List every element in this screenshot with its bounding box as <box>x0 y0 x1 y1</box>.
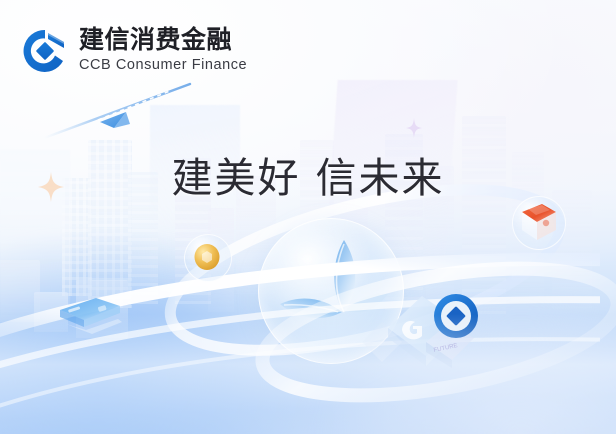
ccb-logo-mark <box>22 28 68 74</box>
brand-logo[interactable]: 建信消费金融 CCB Consumer Finance <box>22 26 247 75</box>
ccb-consumer-finance-banner: FUTURE 建美好 信未来 <box>0 0 616 434</box>
logo-name-en: CCB Consumer Finance <box>79 56 247 75</box>
logo-text-group: 建信消费金融 CCB Consumer Finance <box>79 26 247 75</box>
logo-name-cn: 建信消费金融 <box>79 26 247 53</box>
paper-plane-icon <box>40 82 220 142</box>
gold-coin-icon <box>193 243 221 276</box>
page-headline: 建美好 信未来 <box>0 152 616 204</box>
bottom-fade <box>0 314 616 434</box>
red-envelope-icon <box>518 200 562 244</box>
sparkle-icon-small <box>406 118 422 143</box>
